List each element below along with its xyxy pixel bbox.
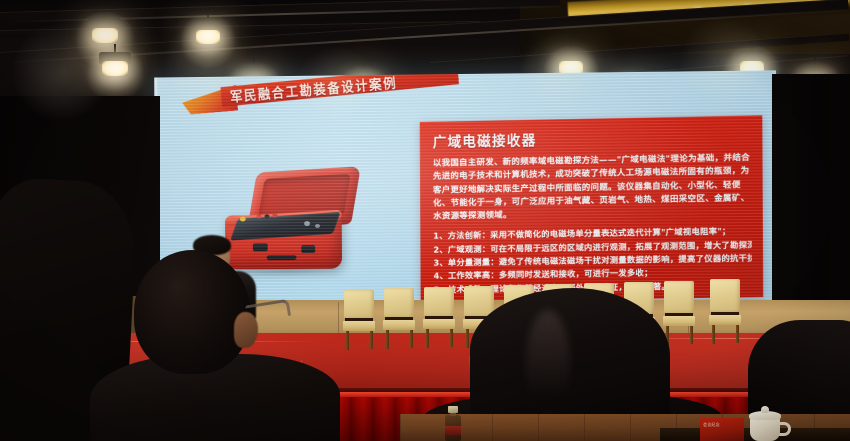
lamp-lens bbox=[196, 30, 220, 44]
chair-seat bbox=[709, 315, 741, 325]
chair-leg bbox=[466, 329, 469, 348]
bottle-label bbox=[445, 426, 461, 435]
slide-text-panel: 广域电磁接收器 以我国自主研发、新的频率域电磁勘探方法——"广域电磁法"理论为基… bbox=[420, 115, 763, 302]
dark-wall-right bbox=[772, 74, 850, 324]
cup-lid-knob bbox=[761, 406, 769, 413]
chair-back bbox=[424, 287, 454, 316]
lamp-lens bbox=[102, 61, 128, 76]
panel-knob-grey bbox=[304, 221, 310, 226]
chair-back bbox=[344, 290, 374, 318]
water-bottle bbox=[443, 406, 463, 441]
chair-seat bbox=[383, 320, 415, 330]
chair-leg bbox=[736, 325, 739, 343]
panel-knob-yellow bbox=[240, 217, 246, 222]
panel-knob-black bbox=[264, 214, 269, 218]
panel-knob-grey bbox=[315, 224, 320, 228]
panel-knob-red bbox=[257, 214, 262, 218]
stage-spotlight bbox=[193, 14, 223, 46]
stage-chair bbox=[424, 287, 454, 335]
chair-leg bbox=[450, 329, 453, 347]
slide-paragraph: 以我国自主研发、新的频率域电磁勘探方法——"广域电磁法"理论为基础，并结合先进的… bbox=[433, 151, 752, 223]
stage-chair bbox=[710, 279, 740, 327]
red-gift-box: 会议纪念 bbox=[700, 418, 744, 441]
stage-chair bbox=[344, 290, 374, 338]
eyeglasses-icon bbox=[245, 299, 291, 323]
stage-spotlight bbox=[88, 10, 122, 44]
chair-leg bbox=[426, 329, 429, 348]
hair-highlight bbox=[526, 310, 570, 422]
stage-spotlight bbox=[99, 44, 131, 78]
stage-chair bbox=[384, 288, 414, 336]
chair-leg bbox=[370, 331, 373, 349]
chair-leg bbox=[386, 330, 389, 349]
chair-seat bbox=[343, 321, 375, 331]
bottle-cap bbox=[448, 406, 458, 413]
chair-leg bbox=[346, 331, 349, 350]
teacup bbox=[748, 406, 792, 441]
banner-text: 军民融合工勘装备设计案例 bbox=[220, 70, 398, 106]
panel-knob-red bbox=[272, 213, 277, 217]
banner-bar: 军民融合工勘装备设计案例 bbox=[220, 70, 459, 106]
chair-back bbox=[710, 279, 740, 312]
chair-leg bbox=[712, 325, 715, 344]
chair-seat bbox=[423, 319, 455, 329]
audience-man-with-glasses bbox=[96, 250, 306, 441]
audience-man-head bbox=[134, 250, 250, 374]
chair-leg bbox=[410, 330, 413, 348]
chair-back bbox=[384, 288, 414, 317]
photo-scene: 军民融合工勘装备设计案例 广域电磁接收器 以我国自主研发、新的频率域电 bbox=[0, 0, 850, 441]
lamp-lens bbox=[92, 28, 118, 43]
slide-panel-title: 广域电磁接收器 bbox=[433, 124, 751, 152]
hall-banner: 军民融合工勘装备设计案例 bbox=[180, 70, 460, 125]
red-box-text: 会议纪念 bbox=[703, 422, 720, 428]
